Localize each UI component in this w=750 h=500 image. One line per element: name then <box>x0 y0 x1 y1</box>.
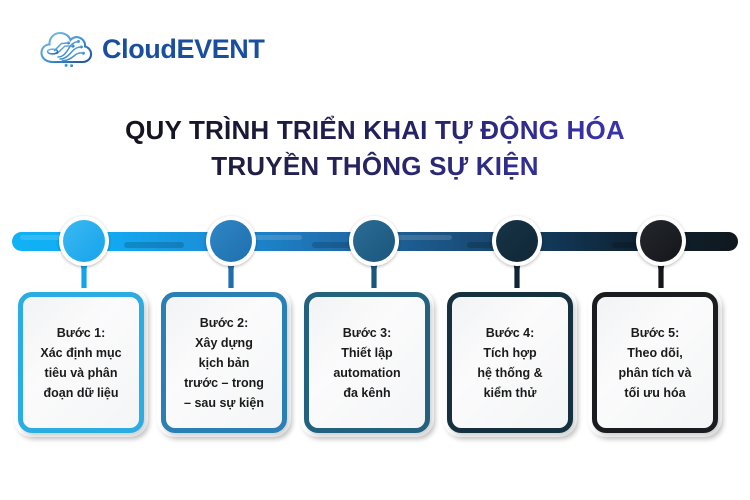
timeline-node-circle[interactable] <box>636 216 686 266</box>
timeline-node-circle[interactable] <box>59 216 109 266</box>
page-title-line-2: TRUYỀN THÔNG SỰ KIỆN <box>0 148 750 184</box>
timeline-node-1[interactable] <box>55 206 113 296</box>
step-card-label-4: Bước 4: Tích hợp hệ thống & kiểm thử <box>473 323 546 403</box>
brand-name: CloudEVENT <box>102 36 265 63</box>
step-card-4[interactable]: Bước 4: Tích hợp hệ thống & kiểm thử <box>447 292 573 433</box>
page-title-line-1: QUY TRÌNH TRIỂN KHAI TỰ ĐỘNG HÓA <box>0 112 750 148</box>
timeline-node-circle[interactable] <box>349 216 399 266</box>
timeline-node-4[interactable] <box>488 206 546 296</box>
page-title: QUY TRÌNH TRIỂN KHAI TỰ ĐỘNG HÓA TRUYỀN … <box>0 112 750 184</box>
cloud-circuit-icon <box>38 26 94 72</box>
timeline-node-2[interactable] <box>202 206 260 296</box>
brand-logo[interactable]: CloudEVENT <box>38 26 265 72</box>
step-card-3[interactable]: Bước 3: Thiết lập automation đa kênh <box>304 292 430 433</box>
step-card-5[interactable]: Bước 5: Theo dõi, phân tích và tối ưu hó… <box>592 292 718 433</box>
step-card-label-2: Bước 2: Xây dựng kịch bản trước – trong … <box>180 313 268 413</box>
step-card-label-5: Bước 5: Theo dõi, phân tích và tối ưu hó… <box>615 323 696 403</box>
step-card-2[interactable]: Bước 2: Xây dựng kịch bản trước – trong … <box>161 292 287 433</box>
timeline-node-circle[interactable] <box>492 216 542 266</box>
timeline-node-5[interactable] <box>632 206 690 296</box>
timeline-node-3[interactable] <box>345 206 403 296</box>
timeline-node-circle[interactable] <box>206 216 256 266</box>
step-card-label-3: Bước 3: Thiết lập automation đa kênh <box>329 323 404 403</box>
step-cards: Bước 1: Xác định mục tiêu và phân đoạn d… <box>0 292 750 442</box>
step-card-label-1: Bước 1: Xác định mục tiêu và phân đoạn d… <box>36 323 125 403</box>
step-card-1[interactable]: Bước 1: Xác định mục tiêu và phân đoạn d… <box>18 292 144 433</box>
process-timeline <box>0 206 750 296</box>
